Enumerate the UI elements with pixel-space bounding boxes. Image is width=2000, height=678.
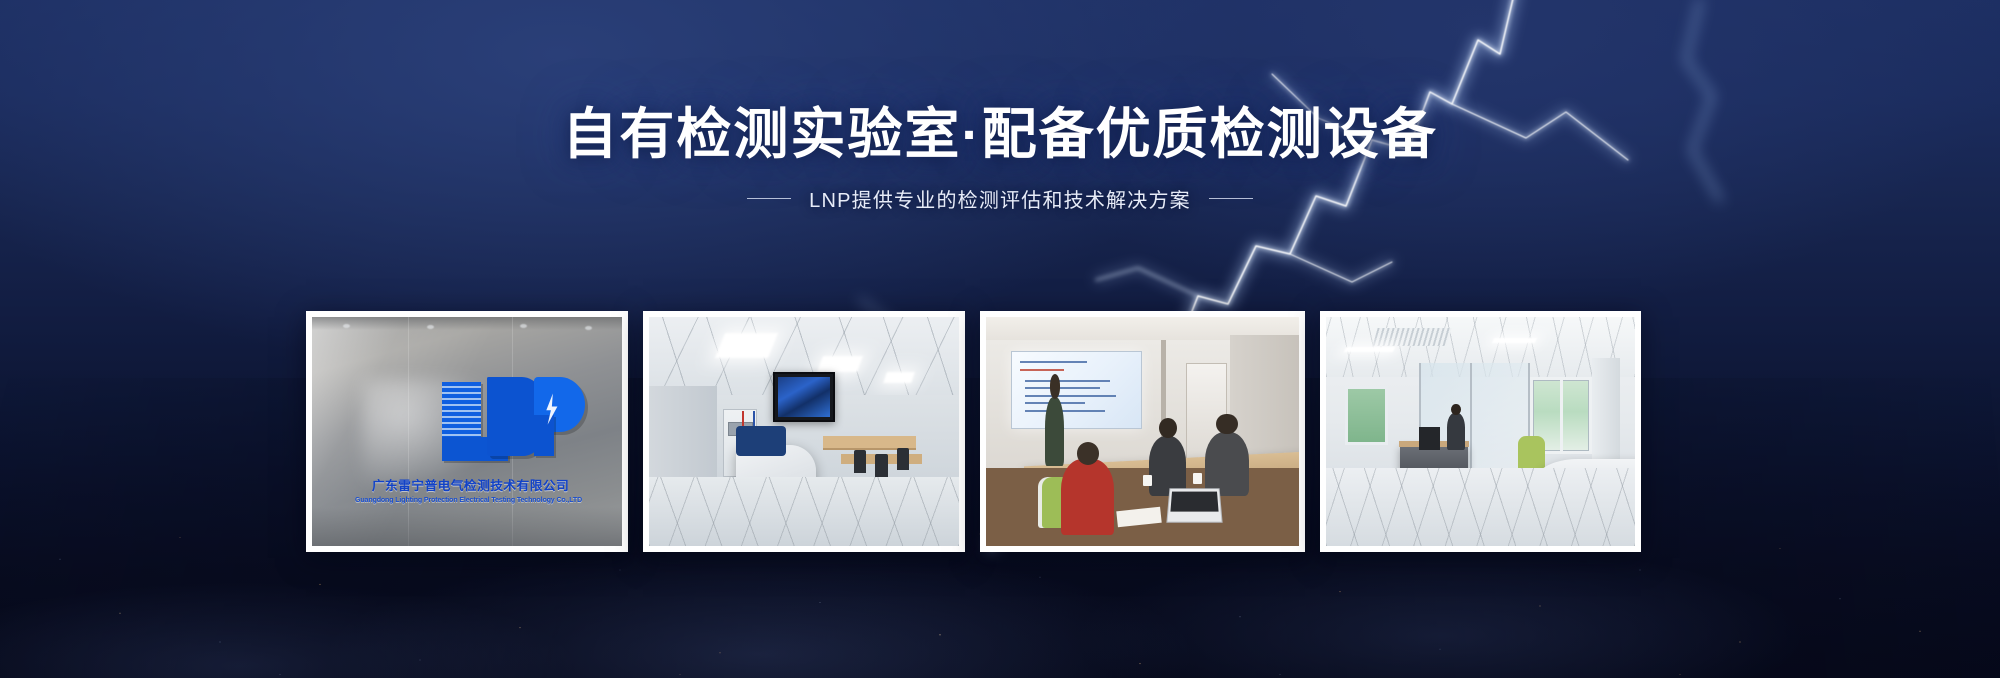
- company-name-chinese: 广东雷宁普电气检测技术有限公司: [328, 475, 613, 494]
- page-title: 自有检测实验室·配备优质检测设备: [0, 104, 2000, 166]
- wall-monitor: [773, 372, 835, 422]
- gallery-card-testing-laboratory[interactable]: [643, 311, 965, 552]
- photo-office-corridor: [1326, 317, 1635, 546]
- company-name-english: Guangdong Lighting Protection Electrical…: [324, 497, 612, 504]
- photo-gallery-strip: 广东雷宁普电气检测技术有限公司 Guangdong Lighting Prote…: [306, 311, 1641, 552]
- photo-testing-laboratory: [649, 317, 959, 546]
- gallery-card-meeting-presentation[interactable]: [980, 311, 1305, 552]
- subtitle-row: LNP提供专业的检测评估和技术解决方案: [0, 184, 2000, 213]
- lnp-logo-mark: [442, 370, 591, 462]
- photo-company-logo-wall: 广东雷宁普电气检测技术有限公司 Guangdong Lighting Prote…: [312, 317, 622, 546]
- headline-block: 自有检测实验室·配备优质检测设备 LNP提供专业的检测评估和技术解决方案: [0, 104, 2000, 213]
- rule-left-decoration: [747, 198, 791, 199]
- hero-banner: 自有检测实验室·配备优质检测设备 LNP提供专业的检测评估和技术解决方案: [0, 0, 2000, 678]
- rule-right-decoration: [1209, 198, 1253, 199]
- gallery-card-company-logo-wall[interactable]: 广东雷宁普电气检测技术有限公司 Guangdong Lighting Prote…: [306, 311, 628, 552]
- laptop-on-table: [1166, 489, 1222, 523]
- page-subtitle: LNP提供专业的检测评估和技术解决方案: [809, 184, 1191, 213]
- gallery-card-office-corridor[interactable]: [1320, 311, 1641, 552]
- projection-screen: [1011, 351, 1142, 429]
- photo-meeting-presentation: [986, 317, 1299, 546]
